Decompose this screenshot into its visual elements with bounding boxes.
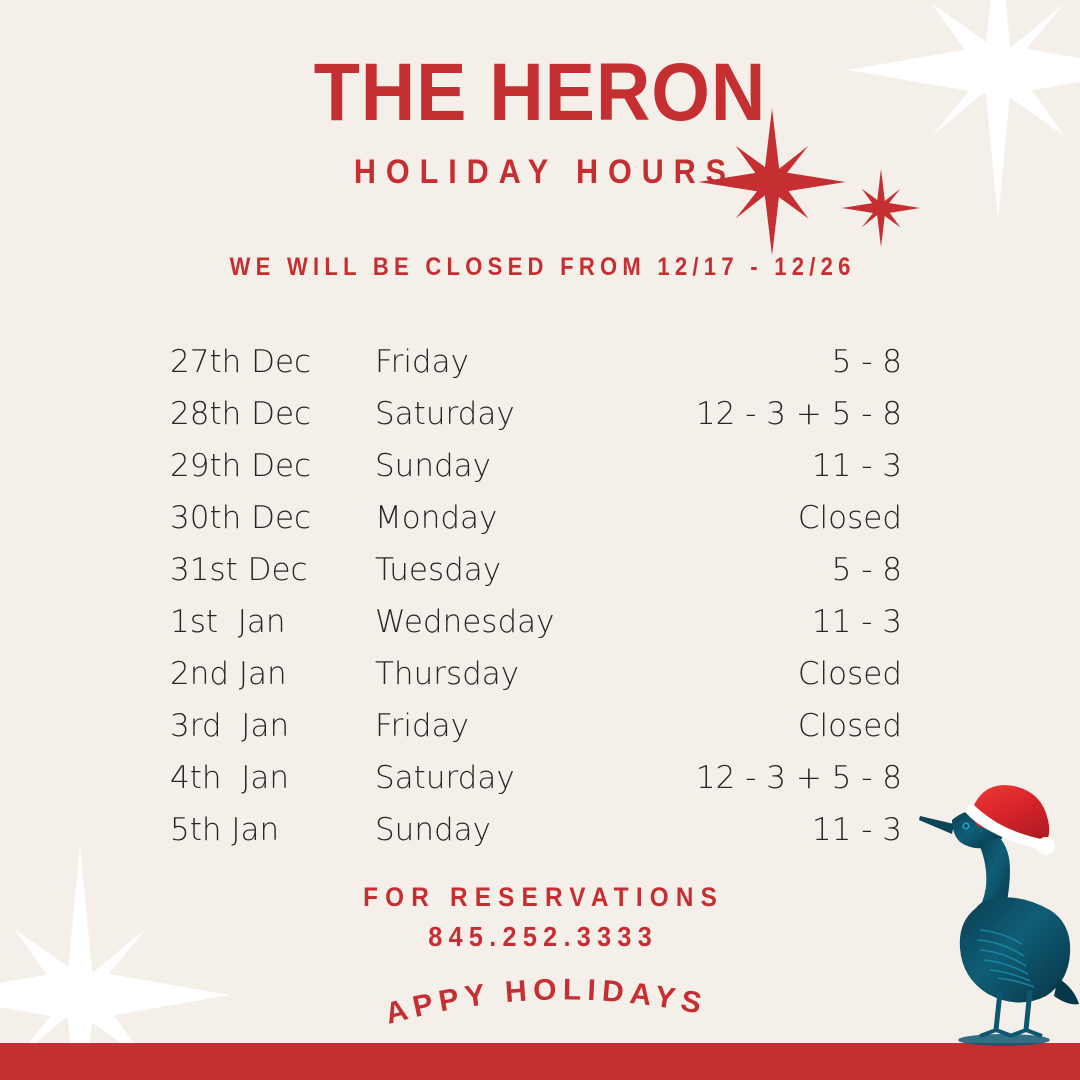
row-date: 3rd Jan xyxy=(170,700,360,752)
row-date: 27th Dec xyxy=(170,336,360,388)
row-date: 28th Dec xyxy=(170,388,360,440)
row-date: 4th Jan xyxy=(170,752,360,804)
row-hours: 12 - 3 + 5 - 8 xyxy=(572,752,902,804)
poster-subtitle: HOLIDAY HOURS xyxy=(54,152,1026,192)
row-date: 2nd Jan xyxy=(170,648,360,700)
holiday-hours-poster: THE HERON HOLIDAY HOURS WE WILL BE CLOSE… xyxy=(0,0,1080,1080)
row-hours: 11 - 3 xyxy=(572,596,902,648)
table-row: 1st Jan Wednesday 11 - 3 xyxy=(170,596,902,648)
table-row: 4th Jan Saturday 12 - 3 + 5 - 8 xyxy=(170,752,902,804)
table-row: 28th Dec Saturday 12 - 3 + 5 - 8 xyxy=(170,388,902,440)
table-row: 30th Dec Monday Closed xyxy=(170,492,902,544)
heron-pupil xyxy=(964,824,967,827)
heron-body xyxy=(960,897,1070,1002)
heron-beak xyxy=(919,816,954,834)
heron-bird-illustration xyxy=(918,782,1080,1050)
closed-dates-notice: WE WILL BE CLOSED FROM 12/17 - 12/26 xyxy=(65,252,1015,282)
reservations-phone-number[interactable]: 845.252.3333 xyxy=(54,920,1026,954)
table-row: 29th Dec Sunday 11 - 3 xyxy=(170,440,902,492)
holiday-hours-table: 27th Dec Friday 5 - 8 28th Dec Saturday … xyxy=(170,336,902,856)
row-hours: Closed xyxy=(572,492,902,544)
row-hours: 5 - 8 xyxy=(572,336,902,388)
table-row: 31st Dec Tuesday 5 - 8 xyxy=(170,544,902,596)
brand-title: THE HERON xyxy=(43,52,1037,134)
reservations-label: FOR RESERVATIONS xyxy=(54,880,1026,914)
row-hours: 11 - 3 xyxy=(572,440,902,492)
santa-hat-pompom xyxy=(1037,837,1055,855)
heron-tail xyxy=(1054,978,1079,1004)
row-date: 30th Dec xyxy=(170,492,360,544)
table-row: 5th Jan Sunday 11 - 3 xyxy=(170,804,902,856)
row-date: 29th Dec xyxy=(170,440,360,492)
row-date: 31st Dec xyxy=(170,544,360,596)
row-hours: 12 - 3 + 5 - 8 xyxy=(572,388,902,440)
row-hours: Closed xyxy=(572,648,902,700)
table-row: 27th Dec Friday 5 - 8 xyxy=(170,336,902,388)
happy-holidays-text: HAPPY HOLIDAYS! xyxy=(0,968,710,1031)
table-row: 2nd Jan Thursday Closed xyxy=(170,648,902,700)
row-date: 1st Jan xyxy=(170,596,360,648)
row-hours: 11 - 3 xyxy=(572,804,902,856)
row-date: 5th Jan xyxy=(170,804,360,856)
row-hours: Closed xyxy=(572,700,902,752)
row-hours: 5 - 8 xyxy=(572,544,902,596)
table-row: 3rd Jan Friday Closed xyxy=(170,700,902,752)
